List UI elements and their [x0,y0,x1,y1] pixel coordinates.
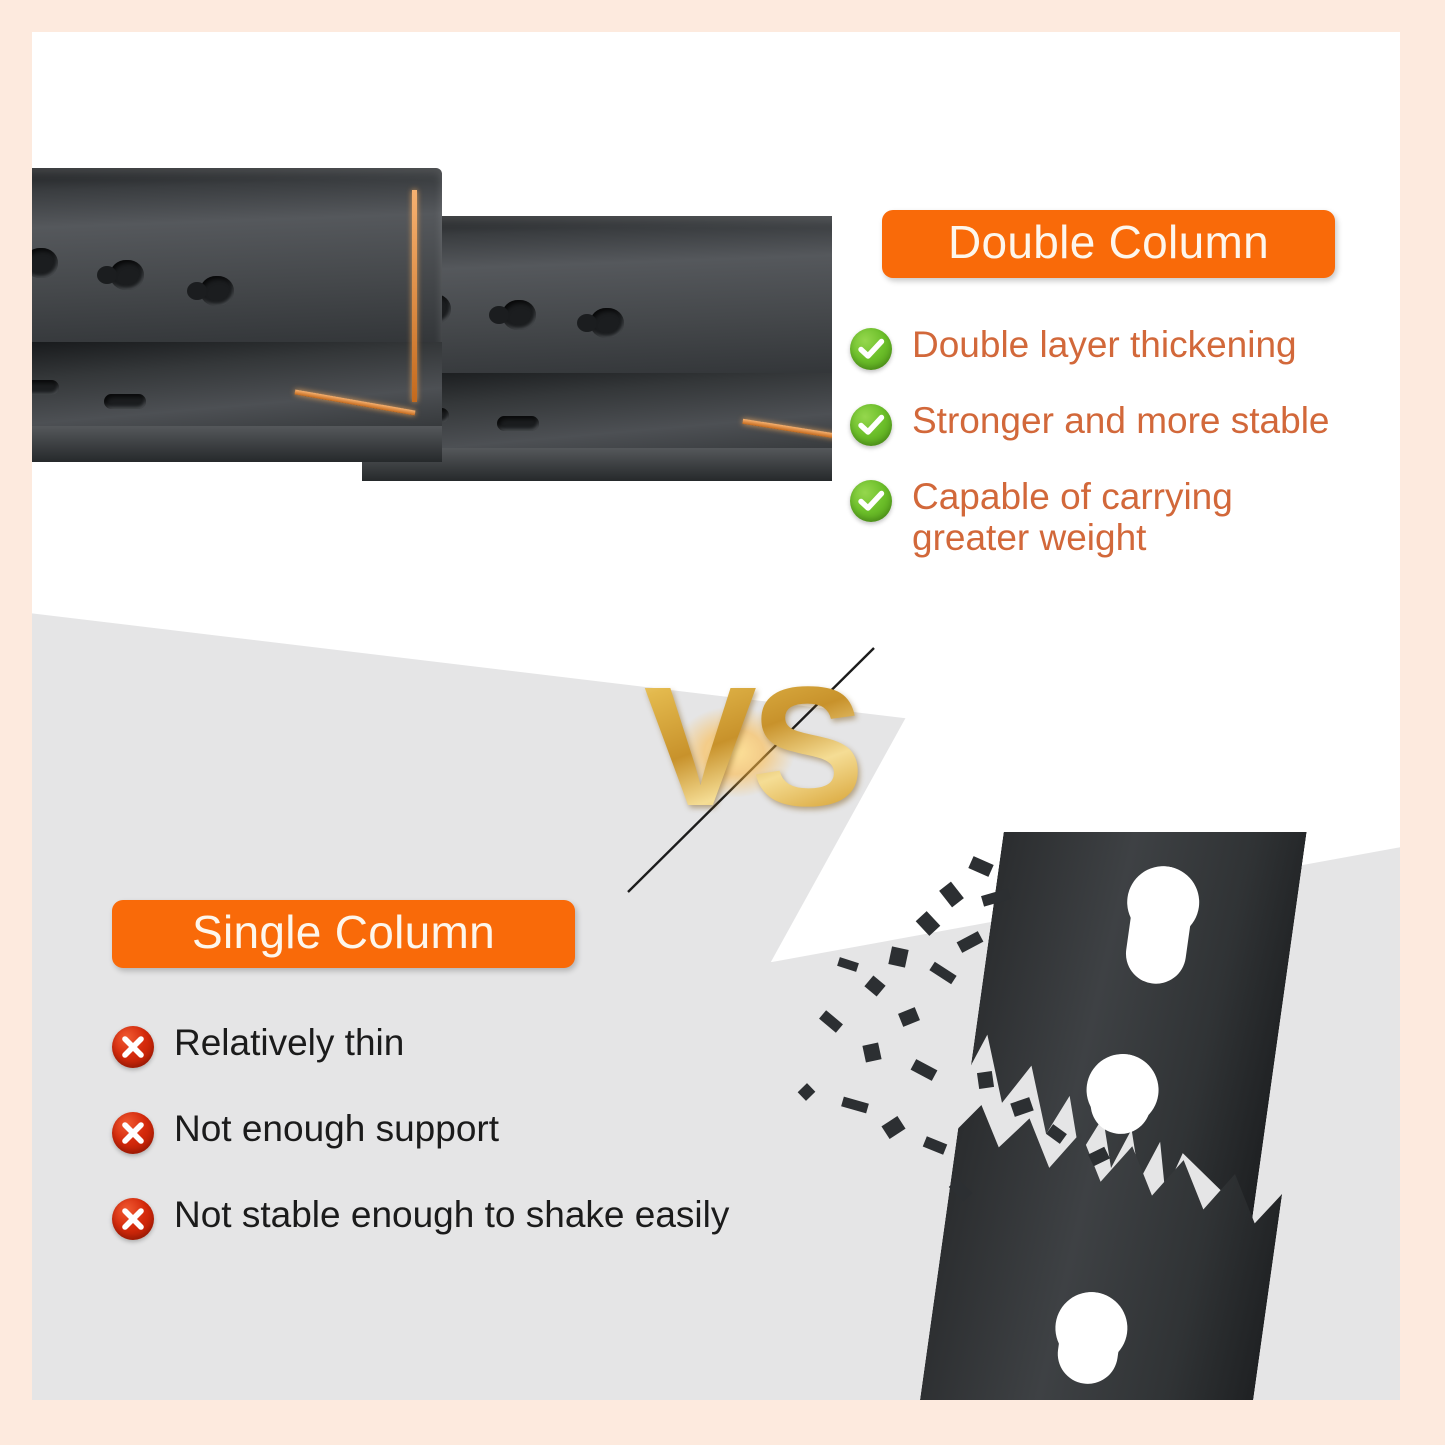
debris-shard [916,911,941,936]
list-item: Double layer thickening [850,324,1390,370]
content-canvas: VS Double Column Double layer thickening… [32,32,1400,1400]
single-column-badge: Single Column [112,900,575,968]
pros-list: Double layer thickening Stronger and mor… [850,324,1390,559]
cons-item-label: Relatively thin [174,1022,404,1063]
debris-shard [888,946,908,967]
single-column-section: Single Column Relatively thin Not enough… [112,900,872,1280]
list-item: Not enough support [112,1108,872,1154]
cons-item-label: Not stable enough to shake easily [174,1194,729,1235]
double-column-badge: Double Column [882,210,1335,278]
pros-item-label: Double layer thickening [912,324,1297,365]
debris-shard [923,1136,948,1154]
cross-circle-icon [112,1198,154,1240]
beam-slot-small [32,380,59,395]
versus-label: VS [606,640,896,855]
cons-list: Relatively thin Not enough support Not s… [112,1022,872,1240]
list-item: Capable of carrying greater weight [850,476,1390,559]
double-column-product-photo [32,128,832,598]
beam-slot [200,276,234,306]
check-circle-icon [850,328,892,370]
list-item: Not stable enough to shake easily [112,1194,872,1240]
double-column-section: Double Column Double layer thickening St… [850,210,1390,559]
beam-copper-edge [412,190,417,402]
cross-circle-icon [112,1026,154,1068]
beam-slot [590,308,624,338]
beam-foot [32,426,442,462]
infographic-page: VS Double Column Double layer thickening… [0,0,1445,1445]
steel-beam-front [32,168,442,468]
check-circle-icon [850,480,892,522]
pros-item-label: Stronger and more stable [912,400,1330,441]
beam-slot [110,260,144,290]
beam-slot-small [497,416,539,431]
list-item: Stronger and more stable [850,400,1390,446]
list-item: Relatively thin [112,1022,872,1068]
beam-slot [502,300,536,330]
debris-shard [898,1007,920,1027]
pros-item-label: Capable of carrying greater weight [912,476,1312,559]
beam-slot-small [104,394,146,409]
debris-shard [968,856,993,877]
debris-shard [939,882,964,908]
beam-web [32,168,442,354]
cons-item-label: Not enough support [174,1108,499,1149]
debris-shard [1088,1147,1110,1167]
cross-circle-icon [112,1112,154,1154]
debris-shard [977,1071,994,1089]
check-circle-icon [850,404,892,446]
debris-shard [911,1059,938,1081]
debris-shard [881,1116,905,1139]
versus-graphic: VS [606,640,896,900]
debris-shard [929,962,956,985]
debris-shard [957,931,984,953]
debris-shard [1010,1097,1033,1117]
